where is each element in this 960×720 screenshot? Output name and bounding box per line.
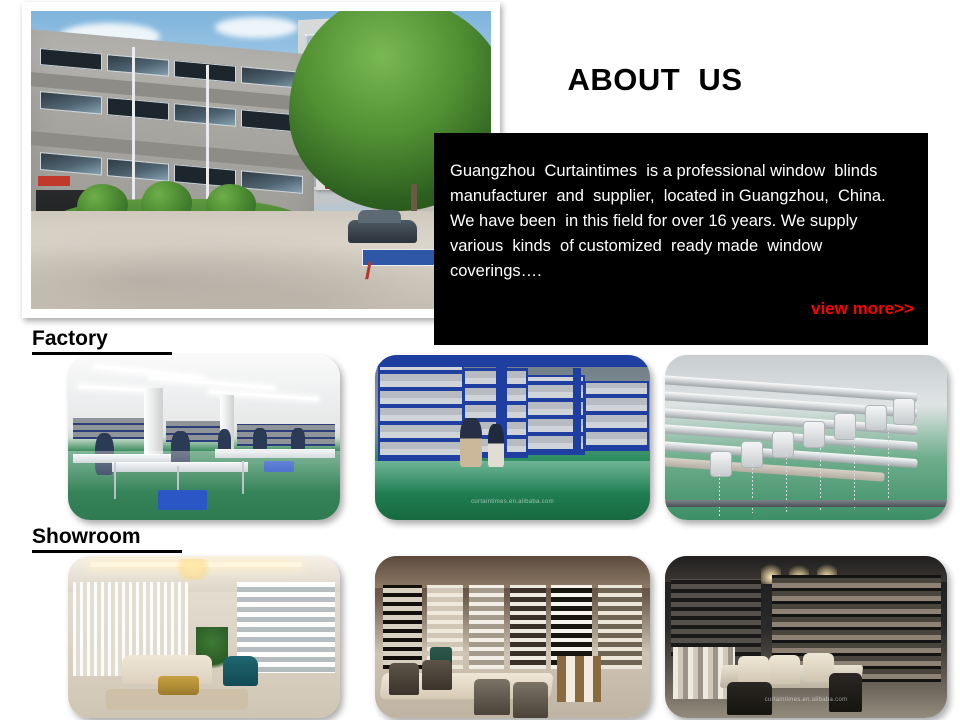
storage-shelf xyxy=(73,418,155,439)
chandelier xyxy=(171,559,215,580)
chair xyxy=(769,655,800,684)
display-shelving xyxy=(671,579,761,657)
bead-chain xyxy=(854,434,855,510)
ceiling xyxy=(375,556,650,588)
cloud xyxy=(215,17,298,38)
blind-sample xyxy=(383,585,422,669)
about-paragraph: Guangzhou Curtaintimes is a professional… xyxy=(450,159,910,284)
factory-warehouse-racks[interactable]: curtaintimes.en.alibaba.com xyxy=(375,355,650,520)
coffee-table xyxy=(158,676,199,695)
rack-upright xyxy=(573,368,581,454)
blind-sample xyxy=(510,585,546,669)
blind-bracket xyxy=(803,421,825,448)
chair xyxy=(474,679,510,715)
ping-pong-legs xyxy=(365,262,444,280)
parked-car xyxy=(348,220,417,244)
showroom-meeting-room[interactable] xyxy=(375,556,650,718)
section-label-factory: Factory xyxy=(32,327,172,355)
conveyor-rail xyxy=(665,500,947,507)
factory-assembly-workshop[interactable] xyxy=(68,355,340,520)
showroom-fabric-gallery[interactable]: curtaintimes.en.alibaba.com xyxy=(665,556,947,718)
blind-sample xyxy=(598,585,642,669)
about-us-slide: ABOUT US Guangzhou Curtaintimes is a pro… xyxy=(0,0,960,720)
blind-bracket xyxy=(710,451,732,478)
bead-chain xyxy=(719,474,720,517)
accent-chair xyxy=(223,656,258,685)
downpipe xyxy=(132,47,135,202)
blind-bracket xyxy=(865,405,887,432)
door-sign xyxy=(38,176,70,186)
green-epoxy-floor xyxy=(375,461,650,520)
worker xyxy=(488,424,505,467)
hero-photo-frame xyxy=(22,2,500,318)
section-label-showroom: Showroom xyxy=(32,525,182,553)
chair xyxy=(829,673,863,712)
storage-rack xyxy=(378,365,465,461)
page-title: ABOUT US xyxy=(520,62,790,98)
storage-rack xyxy=(584,381,649,451)
image-watermark: curtaintimes.en.alibaba.com xyxy=(665,697,947,703)
bead-chain xyxy=(888,428,889,511)
storage-shelf xyxy=(237,424,335,445)
blind-bracket xyxy=(834,413,856,440)
downpipe xyxy=(206,65,209,208)
chair xyxy=(738,656,769,685)
view-more-link[interactable]: view more>> xyxy=(811,299,914,319)
blind-bracket xyxy=(772,431,794,458)
factory-building-exterior-photo xyxy=(31,11,491,309)
floor-reflection xyxy=(68,451,340,520)
image-watermark: curtaintimes.en.alibaba.com xyxy=(375,499,650,505)
chair xyxy=(389,663,419,695)
blind-bracket xyxy=(893,398,915,425)
chair xyxy=(422,660,452,691)
showroom-living-room[interactable] xyxy=(68,556,340,718)
worker xyxy=(460,418,482,468)
checker-blind-sample xyxy=(557,656,601,701)
chair xyxy=(513,682,549,718)
about-description-box: Guangzhou Curtaintimes is a professional… xyxy=(434,133,928,345)
factory-roller-blind-line[interactable] xyxy=(665,355,947,520)
blind-sample xyxy=(469,585,505,669)
